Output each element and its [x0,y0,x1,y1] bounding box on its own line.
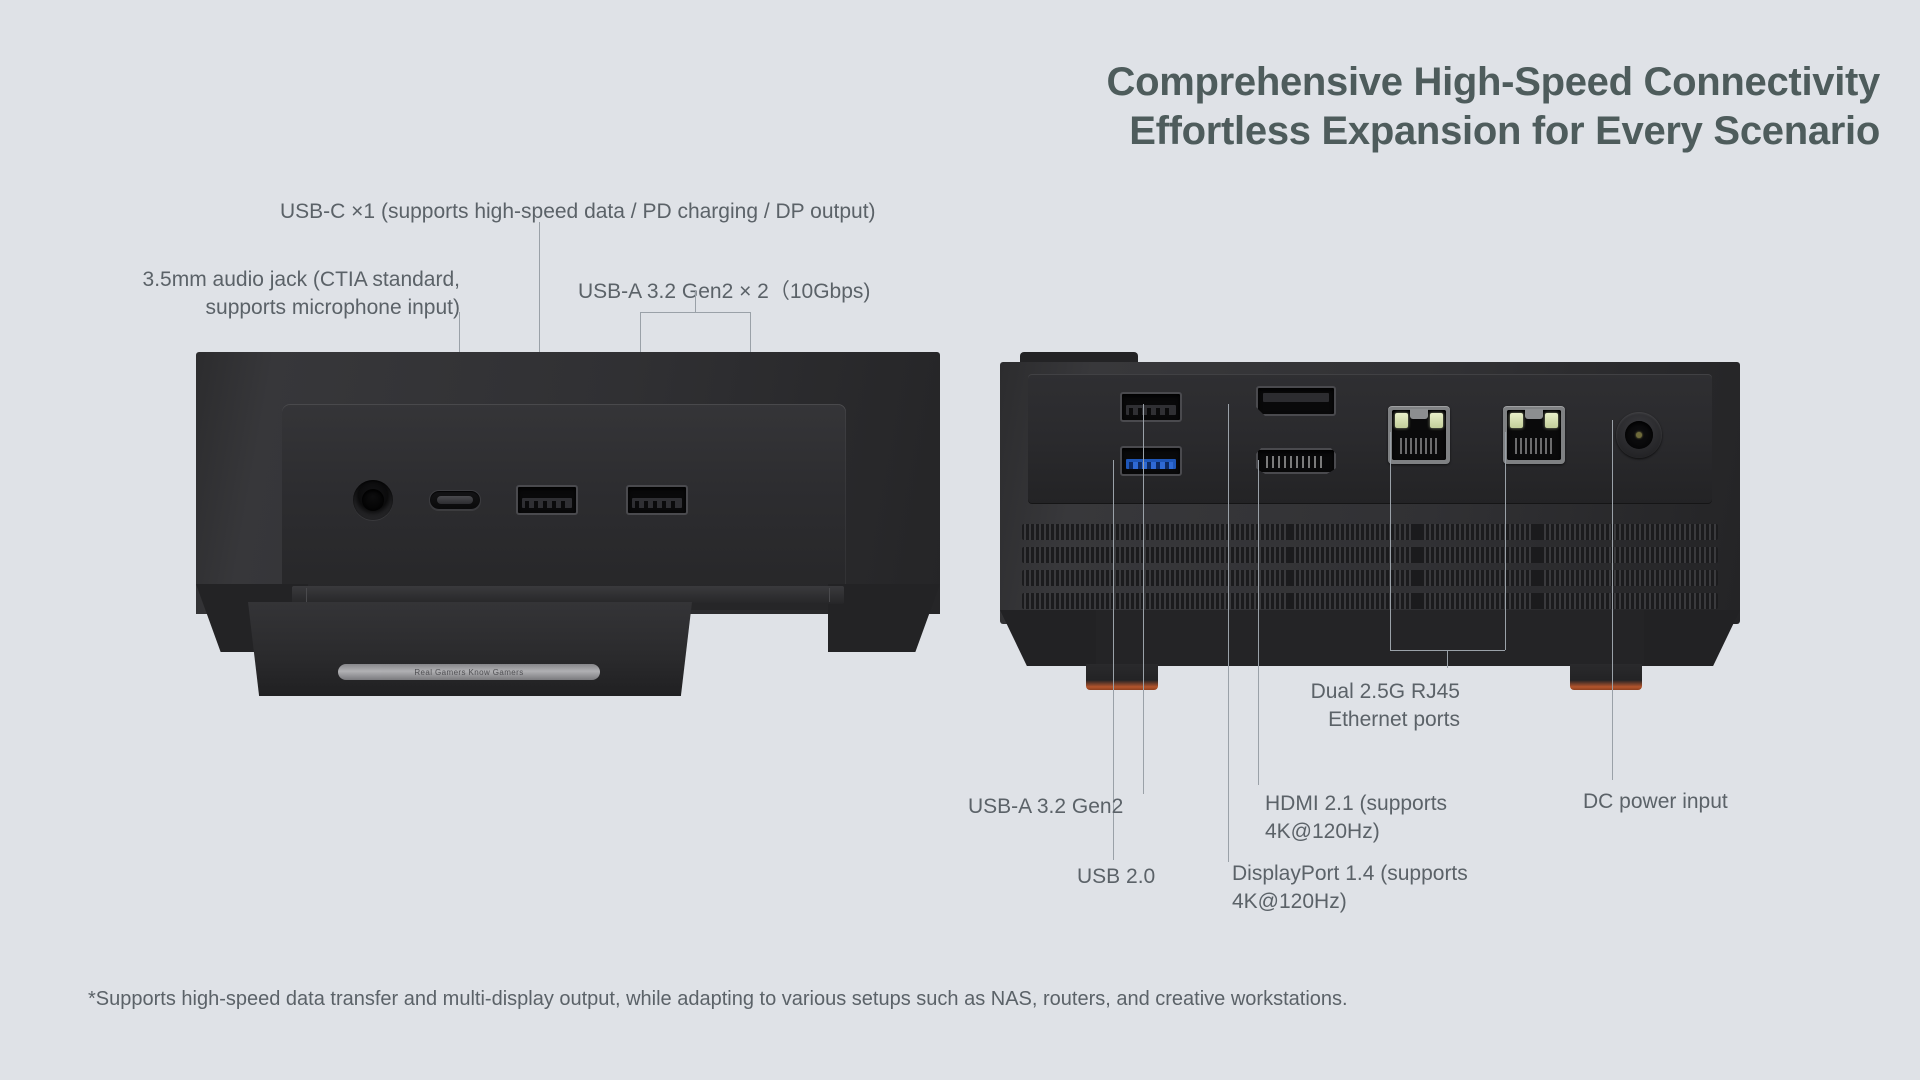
usb-a-port-2[interactable] [626,485,688,515]
leader-line-rj45-1 [1390,432,1391,650]
callout-label-hdmi-line2: 4K@120Hz) [1265,818,1447,846]
callout-label-displayport-line1: DisplayPort 1.4 (supports [1232,860,1468,888]
rj45-clip [1525,409,1543,419]
callout-label-rj45-line2: Ethernet ports [1300,706,1460,734]
callout-label-usb-a-pair: USB-A 3.2 Gen2 × 2（10Gbps) [578,278,870,306]
front-io-panel [282,404,846,610]
rear-device-foot-left [1086,664,1158,690]
rj45-pins [1400,438,1438,454]
rj45-clip [1410,409,1428,419]
front-panel-device: Real Gamers Know Gamers [196,352,940,652]
callout-label-dc-power: DC power input [1583,788,1728,816]
rj45-led-left-icon [1395,413,1408,428]
front-device-stand [248,602,692,696]
callout-label-audio-jack-line1: 3.5mm audio jack (CTIA standard, [100,266,460,294]
displayport-contact-bar [1263,393,1329,402]
rj45-led-right-icon [1545,413,1558,428]
leader-line-dc [1612,420,1613,780]
audio-jack-port[interactable] [353,480,393,520]
callout-label-usb-20: USB 2.0 [1077,863,1155,891]
front-device-skirt-right [828,584,940,652]
callout-label-usb-a-gen2: USB-A 3.2 Gen2 [968,793,1123,821]
callout-label-rj45: Dual 2.5G RJ45 Ethernet ports [1300,678,1460,734]
rj45-led-right-icon [1430,413,1443,428]
rear-io-panel [1028,374,1712,504]
leader-line-rj45-2 [1505,432,1506,650]
callout-label-displayport: DisplayPort 1.4 (supports 4K@120Hz) [1232,860,1468,916]
usb-a-tongue [1126,405,1176,415]
rj45-led-left-icon [1510,413,1523,428]
leader-stem-usb-a-pair [695,290,696,313]
vent-row [1022,593,1718,609]
callout-label-displayport-line2: 4K@120Hz) [1232,888,1468,916]
rear-device-base [1080,610,1660,666]
vent-row [1022,524,1718,540]
hdmi-port[interactable] [1256,448,1336,474]
vent-row [1022,570,1718,586]
callout-label-audio-jack: 3.5mm audio jack (CTIA standard, support… [100,266,460,322]
callout-label-audio-jack-line2: supports microphone input) [100,294,460,322]
rj45-port-1[interactable] [1388,406,1450,464]
infographic-canvas: Comprehensive High-Speed Connectivity Ef… [0,0,1920,1080]
callout-label-hdmi: HDMI 2.1 (supports 4K@120Hz) [1265,790,1447,846]
ventilation-grille [1022,524,1718,610]
rear-device-skirt-right [1644,610,1740,666]
callout-label-usb-c: USB-C ×1 (supports high-speed data / PD … [280,198,876,226]
usb-a-port-1[interactable] [516,485,578,515]
usb-a-tongue [1126,459,1176,469]
leader-stem-rj45 [1447,650,1448,668]
rear-device-foot-right [1570,664,1642,690]
usb-2-blue-port[interactable] [1120,446,1182,476]
stand-tagline-plate: Real Gamers Know Gamers [338,664,600,680]
rj45-port-2[interactable] [1503,406,1565,464]
vent-row [1022,547,1718,563]
front-device-hinge [292,586,844,604]
dc-power-port[interactable] [1616,412,1662,458]
leader-line-usb-a-gen2 [1143,404,1144,794]
rear-device-skirt-left [1000,610,1096,666]
page-title-line1: Comprehensive High-Speed Connectivity [1107,58,1881,107]
page-title-line2: Effortless Expansion for Every Scenario [1107,107,1881,156]
footnote: *Supports high-speed data transfer and m… [88,988,1348,1011]
rear-panel-device [1000,352,1740,672]
rj45-pins [1515,438,1553,454]
leader-line-hdmi [1258,460,1259,785]
page-title: Comprehensive High-Speed Connectivity Ef… [1107,58,1881,156]
hdmi-pins [1266,456,1326,468]
callout-label-rj45-line1: Dual 2.5G RJ45 [1300,678,1460,706]
leader-line-displayport [1228,404,1229,862]
displayport-port[interactable] [1256,386,1336,416]
usb-a-tongue [522,498,572,508]
callout-label-hdmi-line1: HDMI 2.1 (supports [1265,790,1447,818]
usb-a-top-port[interactable] [1120,392,1182,422]
usb-c-port[interactable] [429,490,481,510]
usb-a-tongue [632,498,682,508]
